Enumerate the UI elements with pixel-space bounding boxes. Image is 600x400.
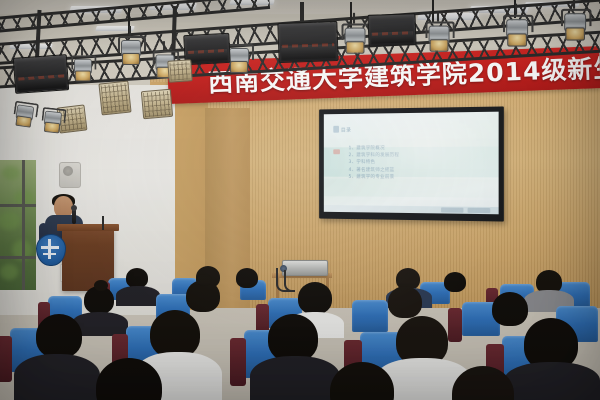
par-can-light bbox=[344, 21, 365, 53]
slide-contents-list: 1、建筑学院概况 2、建筑学科的发展历程 3、学科特色 4、著名建筑师之摇篮 5… bbox=[349, 145, 491, 182]
university-crest bbox=[36, 234, 64, 264]
auditorium-seat-arm bbox=[448, 308, 462, 342]
flood-light bbox=[13, 54, 69, 94]
warm-flood-light bbox=[98, 81, 131, 116]
par-can-light bbox=[505, 13, 527, 46]
flood-light bbox=[367, 13, 416, 47]
wall-speaker bbox=[59, 162, 81, 188]
audience-shoulders bbox=[14, 354, 100, 400]
audience-hair-bun bbox=[94, 280, 108, 291]
projection-screen: 目录 1、建筑学院概况 2、建筑学科的发展历程 3、学科特色 4、著名建筑师之摇… bbox=[319, 106, 504, 221]
crest-mark bbox=[43, 253, 56, 255]
podium-top bbox=[57, 224, 119, 231]
crest-mark bbox=[48, 239, 51, 259]
flood-light bbox=[277, 21, 338, 63]
par-can-light bbox=[73, 54, 91, 81]
slide-title: 目录 bbox=[341, 127, 352, 134]
audience-head bbox=[298, 282, 332, 314]
slide-title-marker bbox=[333, 126, 339, 133]
par-can-light bbox=[14, 99, 34, 127]
slide-list-item: 3、学科特色 bbox=[349, 159, 491, 166]
par-can-light bbox=[120, 34, 140, 64]
crest-mark bbox=[41, 246, 59, 249]
crest-shield bbox=[36, 234, 66, 266]
audience-head bbox=[492, 292, 528, 326]
auditorium-seat-arm bbox=[230, 338, 246, 386]
auditorium-seat[interactable] bbox=[352, 300, 388, 332]
microphone bbox=[72, 208, 76, 224]
audience-head bbox=[236, 268, 258, 288]
audience-head bbox=[444, 272, 466, 292]
audience-head bbox=[388, 286, 422, 318]
podium-mic-stand bbox=[102, 216, 104, 230]
audience-head bbox=[268, 314, 318, 362]
auditorium-seat-arm bbox=[0, 336, 12, 382]
warm-flood-light bbox=[167, 59, 192, 83]
slide-band-secondary bbox=[324, 179, 499, 198]
par-can-light bbox=[428, 19, 449, 51]
par-can-light bbox=[42, 105, 62, 132]
taskbar-item bbox=[441, 207, 463, 212]
par-can-light bbox=[228, 42, 248, 72]
window-transom bbox=[0, 256, 36, 259]
photo-scene: 西南交通大学建筑学院2014级新生开学典 目录 1、建筑学院概况 2、建筑学科的… bbox=[0, 0, 600, 400]
audience-shoulders bbox=[250, 356, 340, 400]
warm-flood-light bbox=[141, 89, 173, 120]
window-transom bbox=[0, 204, 36, 207]
audience-shoulders bbox=[116, 286, 160, 306]
audience-head bbox=[126, 268, 148, 288]
slide-bullet-marker bbox=[333, 149, 340, 154]
par-can-light bbox=[563, 7, 585, 40]
slide-list-item: 5、建筑学的专业前景 bbox=[349, 174, 491, 182]
audience-area bbox=[0, 266, 600, 400]
audience-hair-bun bbox=[196, 274, 212, 286]
audience-head bbox=[150, 310, 200, 358]
projection-screen-surface: 目录 1、建筑学院概况 2、建筑学科的发展历程 3、学科特色 4、著名建筑师之摇… bbox=[324, 112, 499, 215]
audience-shoulders bbox=[504, 362, 600, 400]
taskbar-item bbox=[468, 208, 491, 213]
audience-head bbox=[36, 314, 82, 358]
